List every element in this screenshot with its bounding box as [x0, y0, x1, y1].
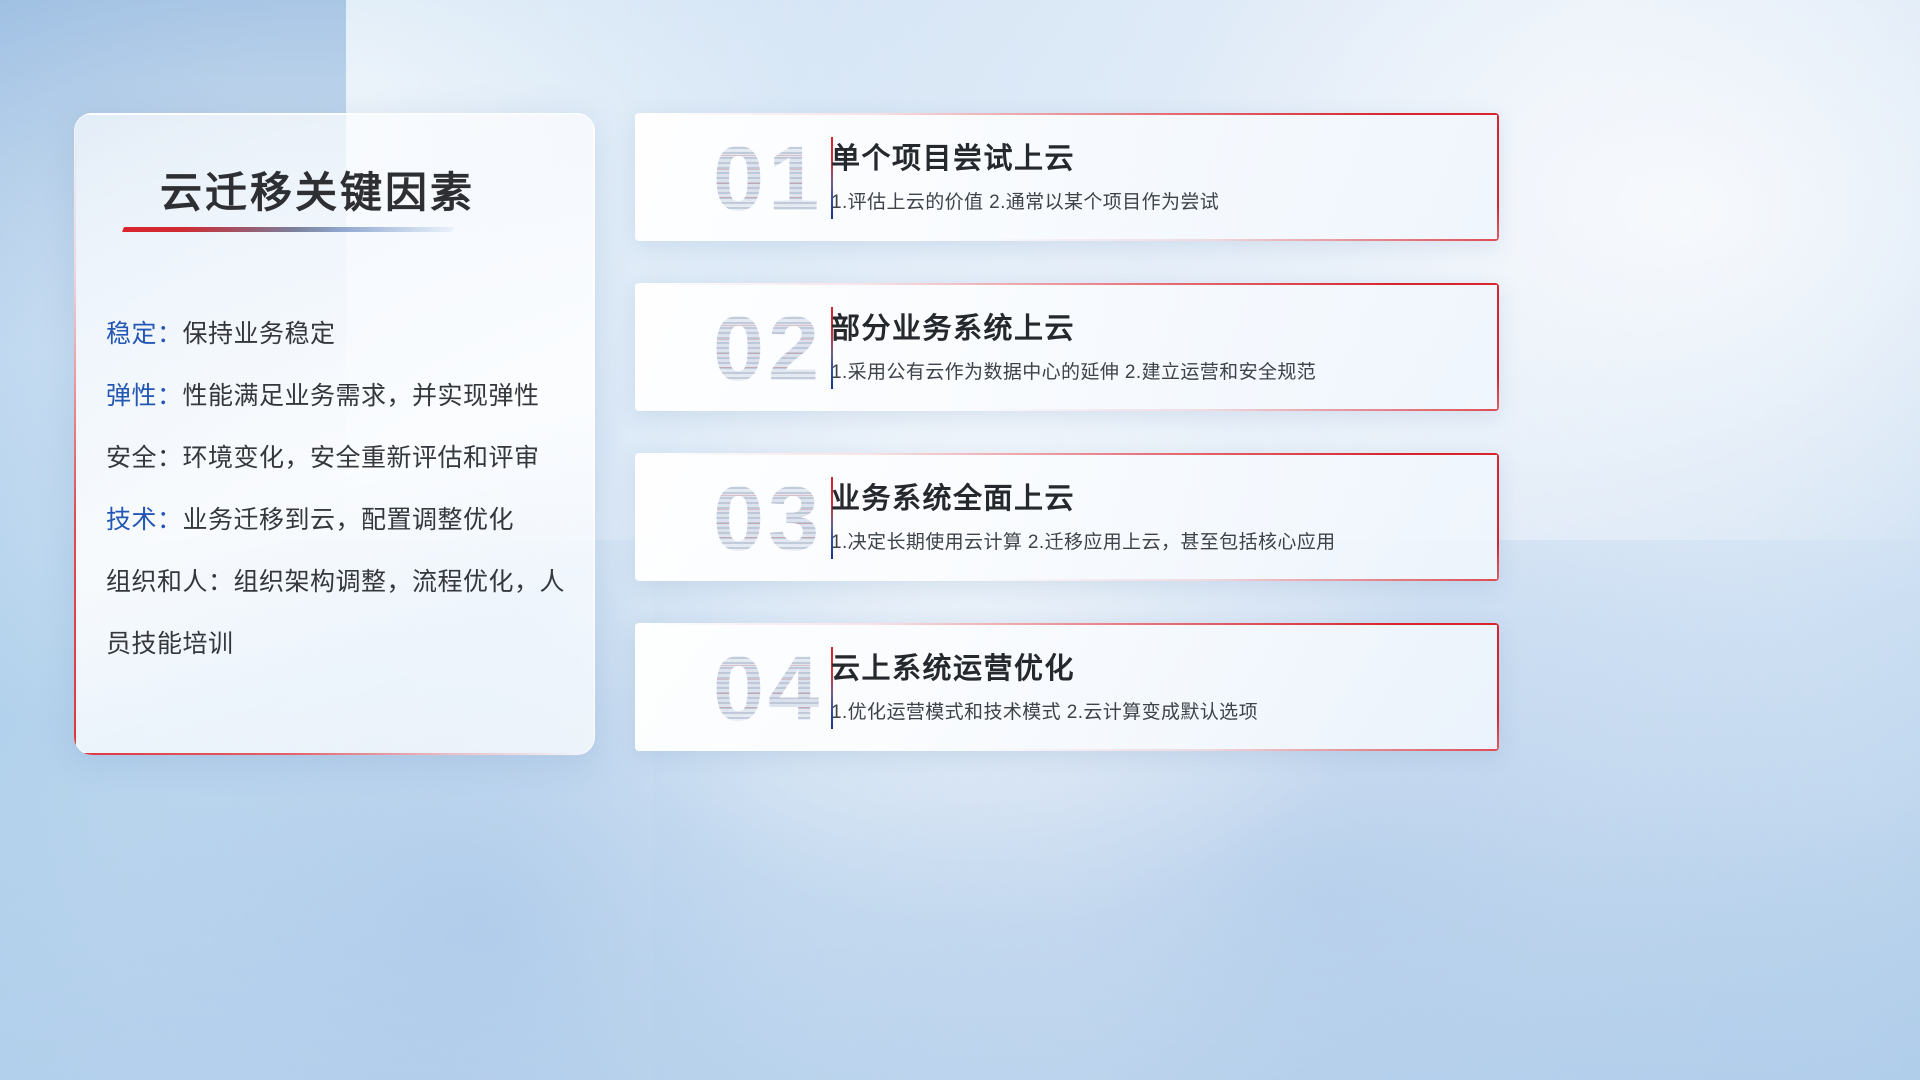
title-underline-rule — [122, 227, 454, 232]
list-item: 组织和人：组织架构调整，流程优化，人员技能培训 — [106, 551, 569, 675]
list-item-text: 环境变化，安全重新评估和评审 — [183, 444, 540, 472]
card-title: 单个项目尝试上云 — [831, 135, 1075, 177]
card-right-accent-line — [1497, 453, 1499, 581]
card-right-accent-line — [1497, 113, 1499, 241]
stage-card[interactable]: 03 03 业务系统全面上云 1.决定长期使用云计算 2.迁移应用上云，甚至包括… — [635, 453, 1499, 581]
card-left-edge — [635, 283, 637, 411]
list-item-label: 安全： — [106, 444, 183, 472]
list-item-text: 业务迁移到云，配置调整优化 — [183, 506, 515, 534]
panel-left-accent-line — [74, 119, 76, 755]
card-bottom-accent-line — [979, 409, 1499, 411]
card-bottom-accent-line — [979, 579, 1499, 581]
card-subtitle: 1.评估上云的价值 2.通常以某个项目作为尝试 — [831, 187, 1219, 214]
list-item: 安全：环境变化，安全重新评估和评审 — [106, 427, 569, 489]
stage-card[interactable]: 02 02 部分业务系统上云 1.采用公有云作为数据中心的延伸 2.建立运营和安… — [635, 283, 1499, 411]
card-subtitle: 1.采用公有云作为数据中心的延伸 2.建立运营和安全规范 — [831, 357, 1316, 384]
panel-top-edge — [78, 113, 595, 115]
list-item: 弹性：性能满足业务需求，并实现弹性 — [106, 365, 569, 427]
card-bottom-accent-line — [979, 749, 1499, 751]
stage-card[interactable]: 04 04 云上系统运营优化 1.优化运营模式和技术模式 2.云计算变成默认选项 — [635, 623, 1499, 751]
card-right-accent-line — [1497, 283, 1499, 411]
card-left-edge — [635, 623, 637, 751]
card-left-edge — [635, 113, 637, 241]
list-item-text: 保持业务稳定 — [183, 320, 336, 348]
list-item-text: 性能满足业务需求，并实现弹性 — [183, 382, 540, 410]
card-title: 业务系统全面上云 — [831, 475, 1075, 517]
list-item: 稳定：保持业务稳定 — [106, 303, 569, 365]
card-subtitle: 1.优化运营模式和技术模式 2.云计算变成默认选项 — [831, 697, 1258, 724]
card-right-accent-line — [1497, 623, 1499, 751]
list-item-label: 技术： — [106, 506, 183, 534]
panel-right-edge — [593, 113, 595, 745]
panel-bottom-accent-line — [74, 753, 587, 755]
card-title: 部分业务系统上云 — [831, 305, 1075, 347]
card-top-accent-line — [649, 623, 1499, 625]
card-top-accent-line — [649, 453, 1499, 455]
card-top-accent-line — [649, 113, 1499, 115]
card-bottom-accent-line — [979, 239, 1499, 241]
list-item-label: 组织和人： — [106, 568, 234, 596]
page-title: 云迁移关键因素 — [160, 159, 475, 220]
card-left-edge — [635, 453, 637, 581]
stage-card[interactable]: 01 01 单个项目尝试上云 1.评估上云的价值 2.通常以某个项目作为尝试 — [635, 113, 1499, 241]
card-top-accent-line — [649, 283, 1499, 285]
card-title: 云上系统运营优化 — [831, 645, 1075, 687]
key-factors-panel: 云迁移关键因素 稳定：保持业务稳定 弹性：性能满足业务需求，并实现弹性 安全：环… — [74, 113, 595, 755]
list-item-label: 弹性： — [106, 382, 183, 410]
key-factors-list: 稳定：保持业务稳定 弹性：性能满足业务需求，并实现弹性 安全：环境变化，安全重新… — [106, 303, 569, 675]
card-subtitle: 1.决定长期使用云计算 2.迁移应用上云，甚至包括核心应用 — [831, 527, 1336, 554]
background-edge-bottom — [0, 799, 1920, 1080]
list-item-label: 稳定： — [106, 320, 183, 348]
list-item: 技术：业务迁移到云，配置调整优化 — [106, 489, 569, 551]
migration-stage-card-list: 01 01 单个项目尝试上云 1.评估上云的价值 2.通常以某个项目作为尝试 0… — [635, 113, 1865, 793]
